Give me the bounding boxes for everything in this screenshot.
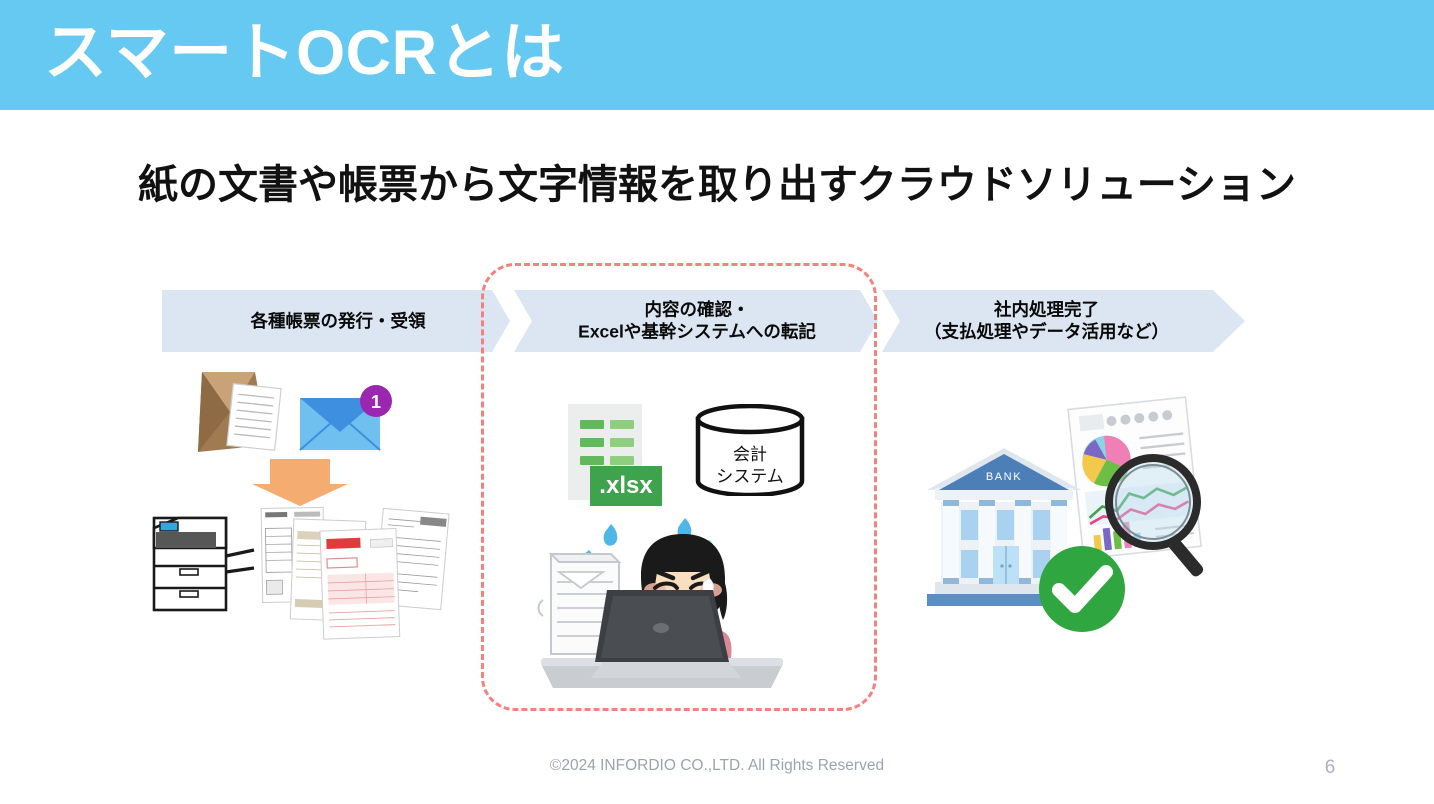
mail-badge-count: 1 (371, 392, 381, 412)
illustration-completed-processing: BANK (905, 382, 1225, 642)
db-label-line1: 会計 (733, 445, 767, 464)
magnifying-glass-icon (1109, 458, 1205, 578)
bank-label: BANK (986, 471, 1022, 483)
process-step-1: 各種帳票の発行・受領 (162, 290, 514, 352)
xlsx-file-icon: .xlsx (568, 404, 662, 510)
printer-icon (154, 518, 254, 610)
mail-notification-badge: 1 (360, 385, 392, 417)
footer-copyright: ©2024 INFORDIO CO.,LTD. All Rights Reser… (0, 757, 1434, 775)
success-check-icon (1039, 546, 1125, 632)
illustration-stressed-office-worker (533, 512, 791, 694)
illustration-document-intake: 1 (150, 360, 460, 650)
page-title: スマートOCRとは (44, 22, 565, 85)
invoice-documents-stack (261, 507, 449, 639)
process-step-3-label: 社内処理完了 （支払処理やデータ活用など） (880, 299, 1213, 344)
page-number: 6 (1310, 757, 1350, 779)
down-arrow-icon (252, 459, 348, 506)
accounting-system-database-icon: 会計 システム (693, 404, 807, 496)
title-banner: スマートOCRとは (0, 0, 1434, 110)
xlsx-extension-label: .xlsx (590, 466, 662, 506)
process-step-1-line1: 各種帳票の発行・受領 (251, 311, 426, 331)
process-step-3-line2: （支払処理やデータ活用など） (924, 322, 1169, 342)
subtitle-text: 紙の文書や帳票から文字情報を取り出すクラウドソリューション (0, 152, 1434, 210)
db-label-line2: システム (716, 467, 784, 486)
process-step-3: 社内処理完了 （支払処理やデータ活用など） (880, 290, 1245, 352)
envelope-with-letter-icon (198, 372, 281, 452)
process-step-3-line1: 社内処理完了 (994, 300, 1099, 320)
process-step-1-label: 各種帳票の発行・受領 (162, 310, 514, 332)
